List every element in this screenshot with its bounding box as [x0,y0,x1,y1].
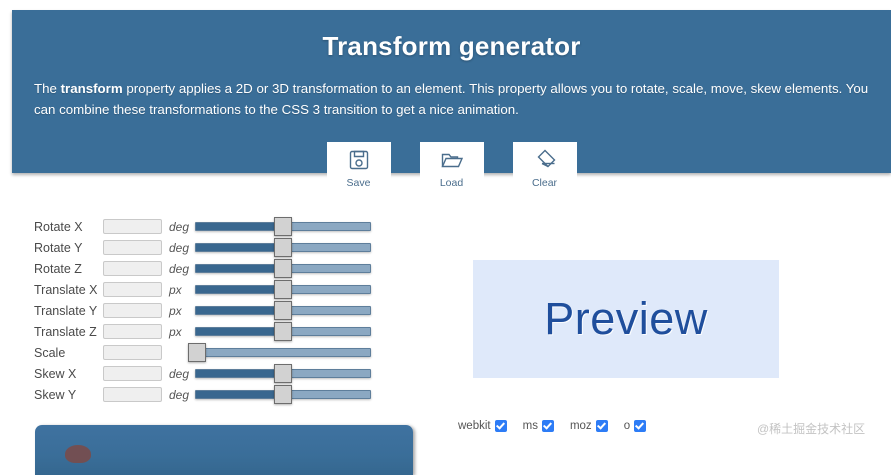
prefix-option[interactable]: webkit [458,420,507,432]
bottom-panel-decoration [65,445,91,463]
slider-thumb[interactable] [274,385,292,404]
control-row: Rotate Zdeg [0,258,420,279]
description-text-1: The [34,81,61,96]
preview-box: Preview [473,260,779,378]
control-unit-label: deg [162,388,192,402]
slider-thumb[interactable] [274,280,292,299]
slider-thumb[interactable] [274,238,292,257]
control-row: Translate Zpx [0,321,420,342]
control-slider[interactable] [195,326,371,337]
control-unit-label: deg [162,241,192,255]
control-value-input[interactable] [103,219,162,234]
slider-thumb[interactable] [274,259,292,278]
control-slider[interactable] [195,389,371,400]
slider-thumb[interactable] [274,322,292,341]
app-header: Transform generator The transform proper… [12,10,891,173]
slider-fill [196,328,283,335]
prefix-option-label: webkit [458,420,491,432]
control-unit-label: px [162,283,192,297]
prefix-option[interactable]: o [624,420,646,432]
control-label: Translate Z [0,325,103,339]
save-floppy-icon [347,148,371,172]
control-row: Skew Xdeg [0,363,420,384]
control-unit-label: deg [162,262,192,276]
slider-thumb[interactable] [274,301,292,320]
control-slider[interactable] [195,305,371,316]
control-value-input[interactable] [103,303,162,318]
load-button[interactable]: Load [420,142,484,197]
control-slider[interactable] [195,347,371,358]
prefix-checkbox[interactable] [495,420,507,432]
slider-fill [196,391,283,398]
transform-controls: Rotate XdegRotate YdegRotate ZdegTransla… [0,216,420,405]
control-row: Rotate Xdeg [0,216,420,237]
clear-button-label: Clear [532,177,557,189]
control-label: Rotate Z [0,262,103,276]
control-label: Scale [0,346,103,360]
load-button-label: Load [440,177,463,189]
control-value-input[interactable] [103,366,162,381]
watermark: @稀土掘金技术社区 [757,420,865,437]
control-slider[interactable] [195,368,371,379]
control-value-input[interactable] [103,261,162,276]
prefix-checkbox[interactable] [634,420,646,432]
folder-open-icon [440,148,464,172]
save-button-label: Save [347,177,371,189]
control-slider[interactable] [195,242,371,253]
control-value-input[interactable] [103,282,162,297]
slider-thumb[interactable] [274,364,292,383]
preview-text: Preview [544,293,708,345]
control-label: Skew X [0,367,103,381]
slider-thumb[interactable] [274,217,292,236]
prefix-option[interactable]: moz [570,420,608,432]
control-row: Translate Ypx [0,300,420,321]
control-unit-label: px [162,325,192,339]
control-label: Translate X [0,283,103,297]
description-bold-term: transform [61,81,123,96]
prefix-option-label: ms [523,420,538,432]
control-value-input[interactable] [103,387,162,402]
slider-fill [196,370,283,377]
header-description: The transform property applies a 2D or 3… [34,78,872,120]
control-label: Translate Y [0,304,103,318]
control-slider[interactable] [195,263,371,274]
slider-track[interactable] [195,348,371,357]
slider-fill [196,265,283,272]
control-row: Translate Xpx [0,279,420,300]
slider-fill [196,286,283,293]
prefix-checkbox[interactable] [596,420,608,432]
eraser-icon [533,148,557,172]
control-row: Rotate Ydeg [0,237,420,258]
slider-fill [196,244,283,251]
control-unit-label: deg [162,367,192,381]
control-slider[interactable] [195,284,371,295]
control-row: Skew Ydeg [0,384,420,405]
bottom-panel [35,425,413,475]
control-label: Rotate Y [0,241,103,255]
save-button[interactable]: Save [327,142,391,197]
control-value-input[interactable] [103,345,162,360]
slider-thumb[interactable] [188,343,206,362]
control-slider[interactable] [195,221,371,232]
control-value-input[interactable] [103,324,162,339]
control-label: Rotate X [0,220,103,234]
slider-fill [196,223,283,230]
toolbar: Save Load Clear [12,142,891,197]
description-text-2: property applies a 2D or 3D transformati… [34,81,868,117]
prefix-option[interactable]: ms [523,420,554,432]
clear-button[interactable]: Clear [513,142,577,197]
slider-fill [196,307,283,314]
control-label: Skew Y [0,388,103,402]
prefix-option-label: o [624,420,630,432]
control-unit-label: deg [162,220,192,234]
control-value-input[interactable] [103,240,162,255]
prefix-option-label: moz [570,420,592,432]
page-title: Transform generator [12,31,891,62]
control-row: Scale [0,342,420,363]
control-unit-label: px [162,304,192,318]
prefix-checkbox[interactable] [542,420,554,432]
vendor-prefix-options: webkitmsmozo [458,420,654,432]
